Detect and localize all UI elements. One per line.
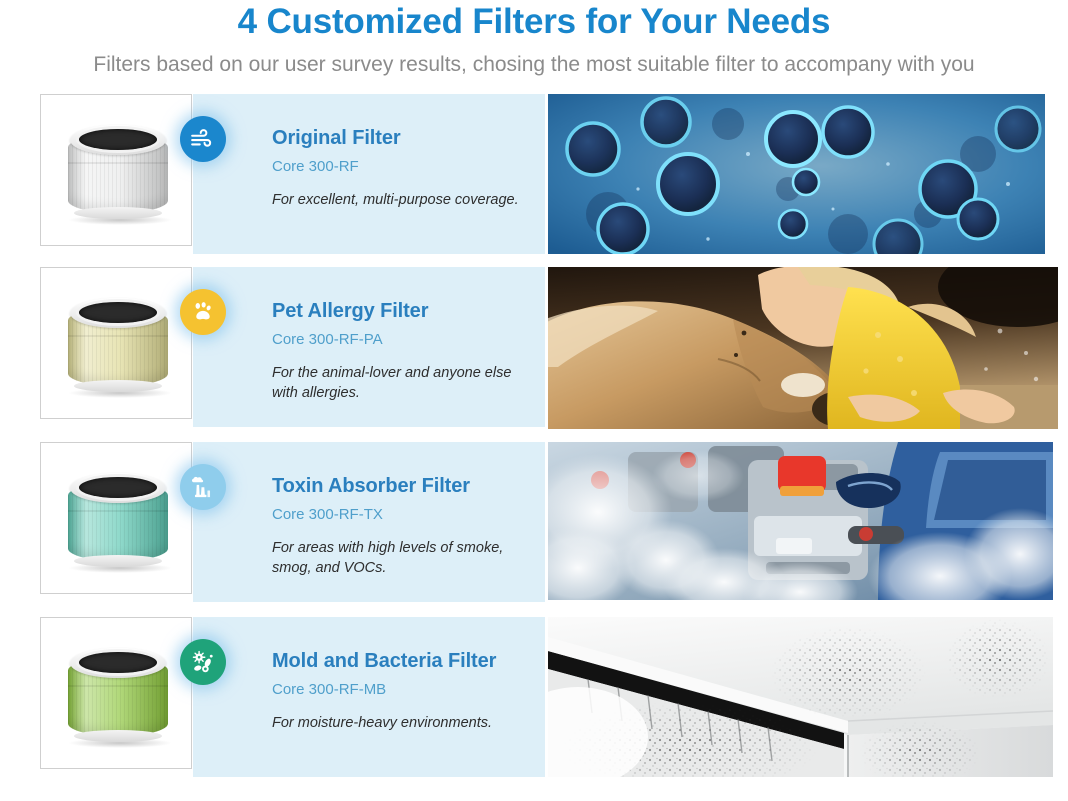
ceiling-mold-photo xyxy=(548,617,1053,777)
filter-info-panel: Mold and Bacteria Filter Core 300-RF-MB … xyxy=(193,617,545,777)
page-title: 4 Customized Filters for Your Needs xyxy=(0,2,1068,42)
filter-info-text: Pet Allergy Filter Core 300-RF-PA For th… xyxy=(272,299,537,403)
filter-product-image xyxy=(40,442,192,594)
filter-model: Core 300-RF xyxy=(272,157,537,177)
filter-row[interactable]: Toxin Absorber Filter Core 300-RF-TX For… xyxy=(0,436,1068,611)
filter-cartridge-illustration xyxy=(64,294,172,394)
filter-info-panel: Pet Allergy Filter Core 300-RF-PA For th… xyxy=(193,267,545,427)
filter-model: Core 300-RF-PA xyxy=(272,330,537,350)
filter-product-image xyxy=(40,617,192,769)
child-kissing-dog-photo xyxy=(548,267,1058,429)
filter-cartridge-illustration xyxy=(64,469,172,569)
filter-name: Original Filter xyxy=(272,126,537,150)
filter-description: For excellent, multi-purpose coverage. xyxy=(272,190,537,210)
filter-description: For moisture-heavy environments. xyxy=(272,713,537,733)
filter-list: Original Filter Core 300-RF For excellen… xyxy=(0,86,1068,777)
filter-info-panel: Toxin Absorber Filter Core 300-RF-TX For… xyxy=(193,442,545,602)
filter-model: Core 300-RF-TX xyxy=(272,505,537,525)
filter-info-text: Mold and Bacteria Filter Core 300-RF-MB … xyxy=(272,649,537,733)
filter-name: Mold and Bacteria Filter xyxy=(272,649,537,673)
wind-icon xyxy=(180,116,226,162)
page-header: 4 Customized Filters for Your Needs Filt… xyxy=(0,0,1068,86)
page-subtitle-container: Filters based on our user survey results… xyxy=(0,50,1068,86)
filter-name: Toxin Absorber Filter xyxy=(272,474,537,498)
pet-icon xyxy=(180,289,226,335)
filter-description: For the animal-lover and anyone else wit… xyxy=(272,363,537,403)
filter-cartridge-illustration xyxy=(64,644,172,744)
filter-info-text: Original Filter Core 300-RF For excellen… xyxy=(272,126,537,210)
filter-info-panel: Original Filter Core 300-RF For excellen… xyxy=(193,94,545,254)
filter-row[interactable]: Original Filter Core 300-RF For excellen… xyxy=(0,86,1068,261)
filter-name: Pet Allergy Filter xyxy=(272,299,537,323)
bacteria-germ-icon xyxy=(180,639,226,685)
page-subtitle: Filters based on our user survey results… xyxy=(0,50,1068,80)
filter-row[interactable]: Mold and Bacteria Filter Core 300-RF-MB … xyxy=(0,611,1068,777)
filter-cartridge-illustration xyxy=(64,121,172,221)
filter-row[interactable]: Pet Allergy Filter Core 300-RF-PA For th… xyxy=(0,261,1068,436)
filter-product-image xyxy=(40,267,192,419)
virus-microbes-photo xyxy=(548,94,1045,254)
filter-model: Core 300-RF-MB xyxy=(272,680,537,700)
car-exhaust-smog-photo xyxy=(548,442,1053,600)
filter-description: For areas with high levels of smoke, smo… xyxy=(272,538,537,578)
factory-smokestack-icon xyxy=(180,464,226,510)
filter-info-text: Toxin Absorber Filter Core 300-RF-TX For… xyxy=(272,474,537,578)
filter-product-image xyxy=(40,94,192,246)
